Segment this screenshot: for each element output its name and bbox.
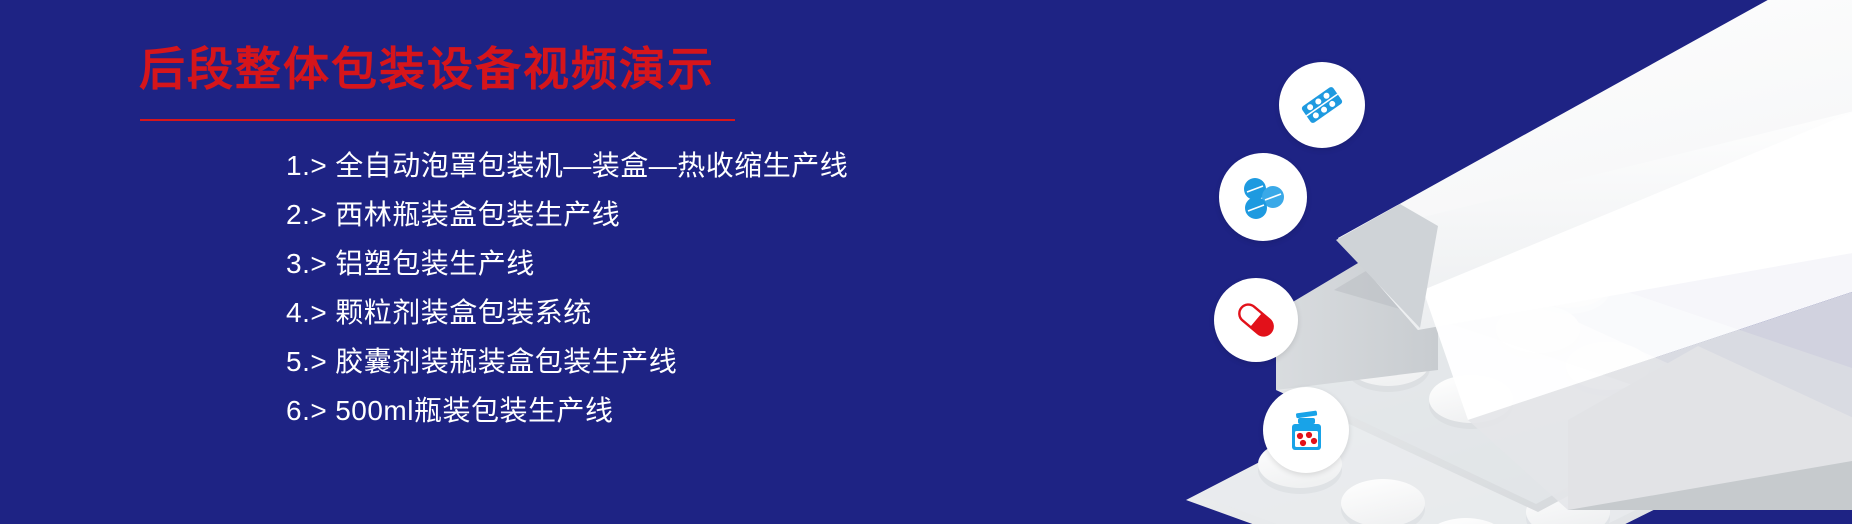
list-item[interactable]: 1.>全自动泡罩包装机—装盒—热收缩生产线 bbox=[286, 152, 1046, 201]
list-item[interactable]: 3.>铝塑包装生产线 bbox=[286, 250, 1046, 299]
list-item-number: 6.> bbox=[286, 397, 327, 425]
list-item-number: 5.> bbox=[286, 348, 327, 376]
list-item-number: 4.> bbox=[286, 299, 327, 327]
text-block: 后段整体包装设备视频演示 1.>全自动泡罩包装机—装盒—热收缩生产线 2.>西林… bbox=[0, 0, 1100, 524]
blister-pack-icon-badge[interactable] bbox=[1279, 62, 1365, 148]
blister-pack-icon bbox=[1294, 77, 1350, 133]
list-item-number: 3.> bbox=[286, 250, 327, 278]
list-item-label: 胶囊剂装瓶装盒包装生产线 bbox=[335, 348, 677, 376]
list-item[interactable]: 2.>西林瓶装盒包装生产线 bbox=[286, 201, 1046, 250]
capsule-icon-badge[interactable] bbox=[1214, 278, 1298, 362]
pharmaceutical-box-artwork bbox=[1138, 0, 1852, 524]
banner-root: 后段整体包装设备视频演示 1.>全自动泡罩包装机—装盒—热收缩生产线 2.>西林… bbox=[0, 0, 1852, 524]
list-item-label: 全自动泡罩包装机—装盒—热收缩生产线 bbox=[335, 152, 848, 180]
title-underline-rule bbox=[140, 119, 735, 121]
list-item[interactable]: 5.>胶囊剂装瓶装盒包装生产线 bbox=[286, 348, 1046, 397]
list-item-label: 500ml瓶装包装生产线 bbox=[335, 397, 613, 425]
tablets-icon bbox=[1235, 169, 1291, 225]
pill-bottle-icon bbox=[1279, 403, 1333, 457]
list-item-number: 2.> bbox=[286, 201, 327, 229]
pill-bottle-icon-badge[interactable] bbox=[1263, 387, 1349, 473]
list-item-label: 铝塑包装生产线 bbox=[335, 250, 535, 278]
list-item[interactable]: 6.>500ml瓶装包装生产线 bbox=[286, 397, 1046, 446]
list-item-label: 颗粒剂装盒包装系统 bbox=[335, 299, 592, 327]
list-item-label: 西林瓶装盒包装生产线 bbox=[335, 201, 620, 229]
tablets-icon-badge[interactable] bbox=[1219, 153, 1307, 241]
video-item-list: 1.>全自动泡罩包装机—装盒—热收缩生产线 2.>西林瓶装盒包装生产线 3.>铝… bbox=[286, 152, 1046, 446]
capsule-icon bbox=[1229, 293, 1283, 347]
list-item[interactable]: 4.>颗粒剂装盒包装系统 bbox=[286, 299, 1046, 348]
page-title: 后段整体包装设备视频演示 bbox=[139, 42, 715, 97]
list-item-number: 1.> bbox=[286, 152, 327, 180]
